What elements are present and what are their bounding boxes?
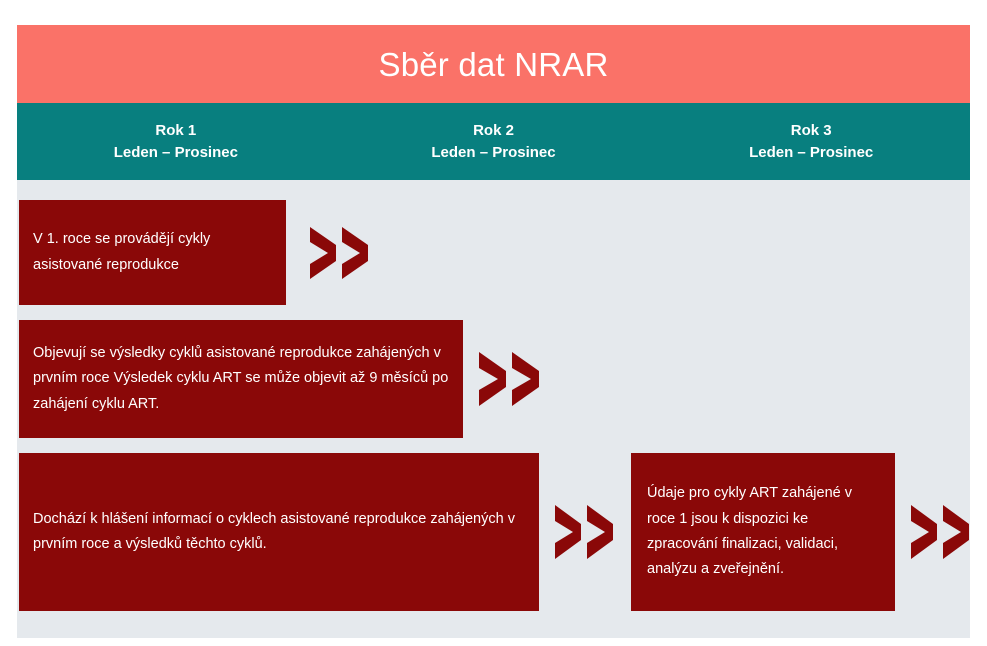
flow-card-row3-right: Údaje pro cykly ART zahájené v roce 1 js… xyxy=(631,453,895,611)
year-column-1: Rok 1 Leden – Prosinec xyxy=(17,120,335,164)
flow-card-row3-right-text: Údaje pro cykly ART zahájené v roce 1 js… xyxy=(647,481,879,583)
flow-row-3: Dochází k hlášení informací o cyklech as… xyxy=(19,453,975,611)
double-chevron-right-icon xyxy=(306,224,374,282)
flow-card-row3-left-text: Dochází k hlášení informací o cyklech as… xyxy=(33,507,525,558)
double-chevron-right-icon xyxy=(907,501,975,563)
year-column-1-name: Rok 1 xyxy=(17,120,335,142)
year-column-2-name: Rok 2 xyxy=(335,120,653,142)
year-header-row: Rok 1 Leden – Prosinec Rok 2 Leden – Pro… xyxy=(17,103,970,180)
year-column-1-range: Leden – Prosinec xyxy=(17,142,335,164)
infographic-container: Sběr dat NRAR Rok 1 Leden – Prosinec Rok… xyxy=(17,25,970,638)
flow-card-row1: V 1. roce se provádějí cykly asistované … xyxy=(19,200,286,305)
year-column-3-name: Rok 3 xyxy=(652,120,970,142)
year-column-3: Rok 3 Leden – Prosinec xyxy=(652,120,970,164)
flow-card-row3-left: Dochází k hlášení informací o cyklech as… xyxy=(19,453,539,611)
double-chevron-right-icon xyxy=(551,501,619,563)
flow-row-2: Objevují se výsledky cyklů asistované re… xyxy=(19,320,545,438)
year-column-2-range: Leden – Prosinec xyxy=(335,142,653,164)
year-column-3-range: Leden – Prosinec xyxy=(652,142,970,164)
flow-card-row2: Objevují se výsledky cyklů asistované re… xyxy=(19,320,463,438)
double-chevron-right-icon xyxy=(475,349,545,409)
flow-body: V 1. roce se provádějí cykly asistované … xyxy=(17,180,970,638)
flow-card-row2-text: Objevují se výsledky cyklů asistované re… xyxy=(33,341,449,417)
year-column-2: Rok 2 Leden – Prosinec xyxy=(335,120,653,164)
title-banner: Sběr dat NRAR xyxy=(17,25,970,103)
flow-row-1: V 1. roce se provádějí cykly asistované … xyxy=(19,200,374,305)
flow-card-row1-text: V 1. roce se provádějí cykly asistované … xyxy=(33,227,272,278)
page-title: Sběr dat NRAR xyxy=(378,48,608,81)
